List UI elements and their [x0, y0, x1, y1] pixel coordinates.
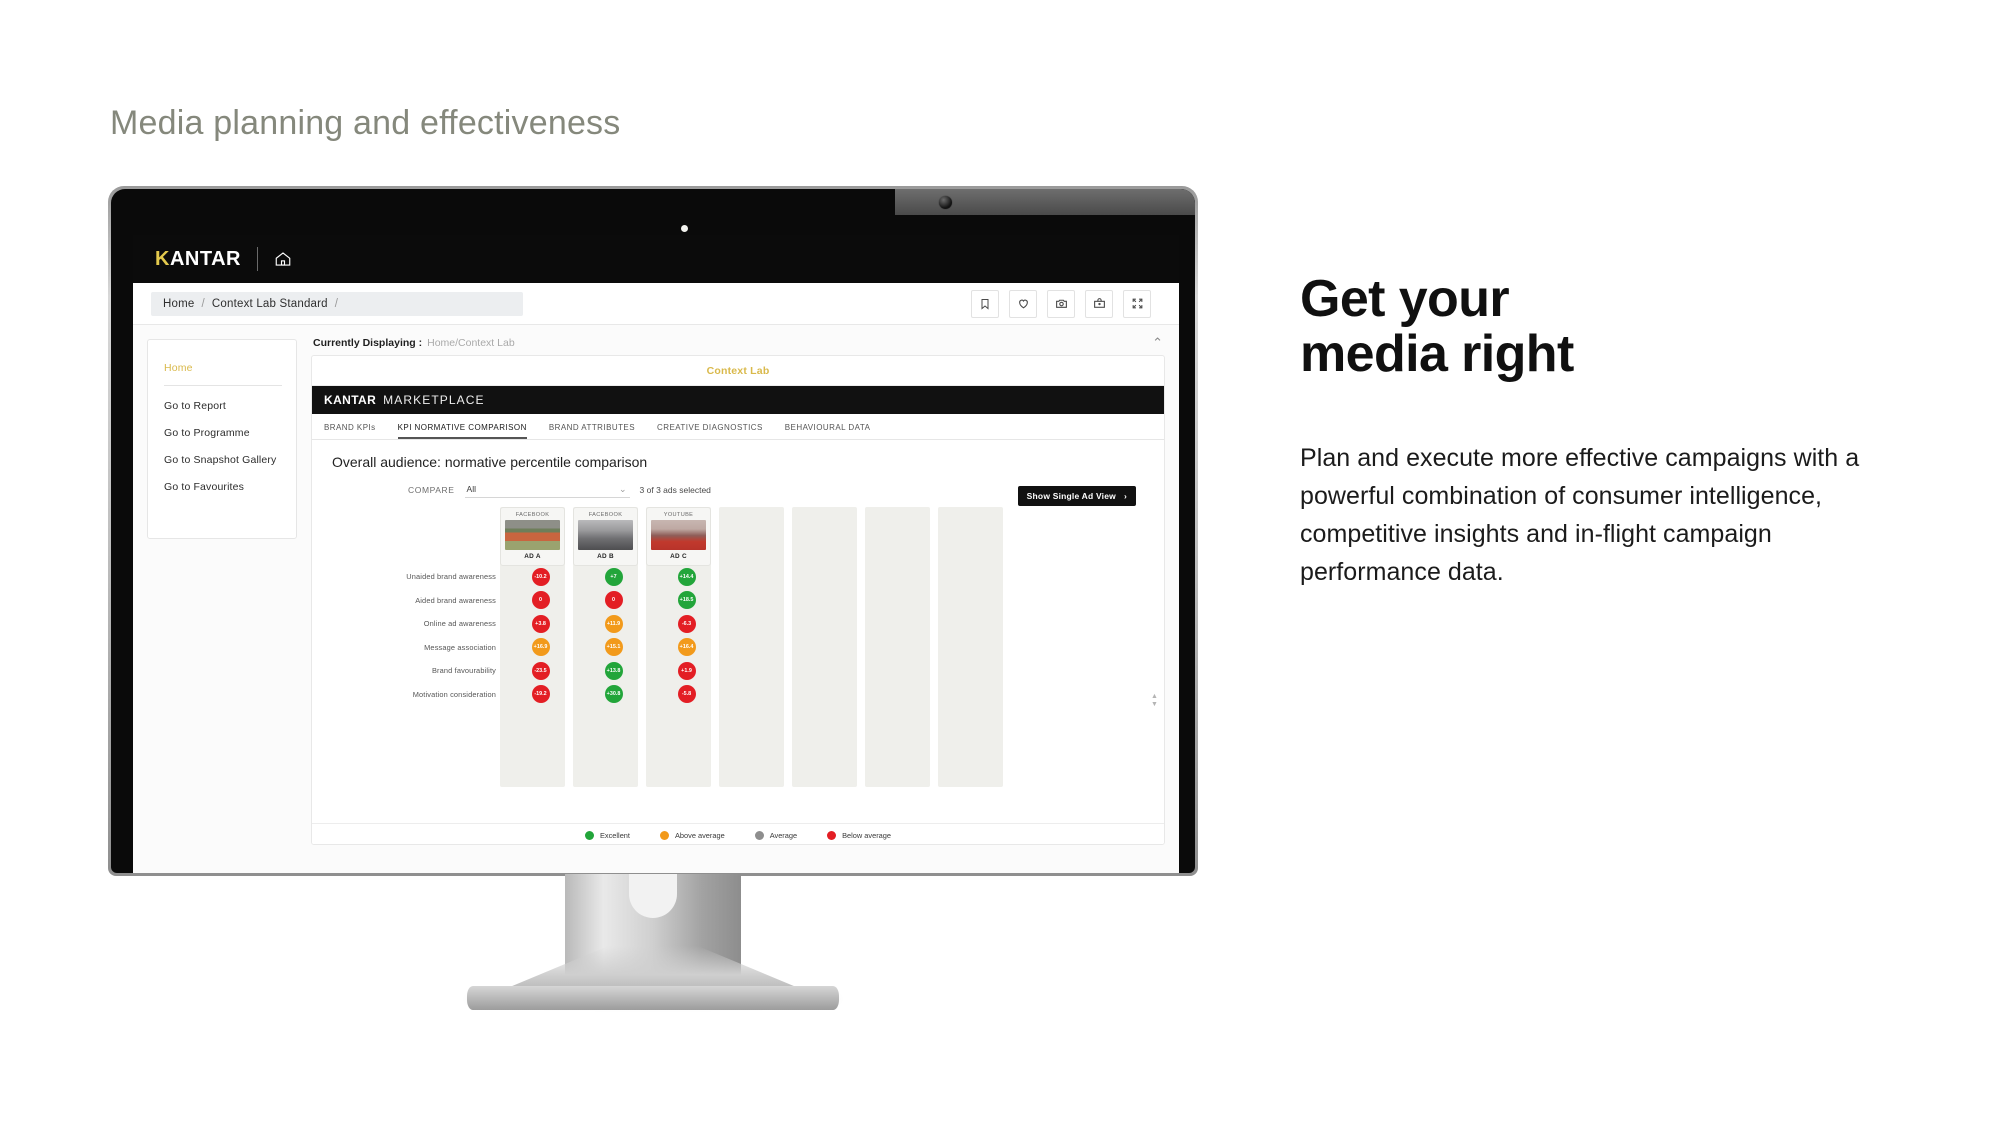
metric-cell: +1.9: [654, 662, 719, 680]
sidebar: Home Go to Report Go to Programme Go to …: [147, 339, 297, 539]
chevron-up-icon[interactable]: ▲: [1151, 693, 1156, 701]
legend-item-average: Average: [755, 831, 797, 840]
legend-label: Average: [770, 831, 797, 840]
chart-legend: Excellent Above average Av: [312, 823, 1164, 840]
legend-item-excellent: Excellent: [585, 831, 630, 840]
logo-k-letter: K: [155, 248, 170, 270]
compare-select[interactable]: All ⌄: [465, 481, 630, 498]
bookmark-button[interactable]: [971, 290, 999, 318]
show-single-ad-view-label: Show Single Ad View: [1027, 491, 1116, 501]
favourite-button[interactable]: [1009, 290, 1037, 318]
breadcrumb-separator-2: /: [335, 298, 338, 310]
panel-tab-row: Context Lab: [312, 356, 1164, 386]
score-bubble[interactable]: +11.9: [605, 615, 623, 633]
metric-label: Message association: [332, 643, 508, 652]
camera-strip: [895, 189, 1195, 215]
metric-label: Unaided brand awareness: [332, 572, 508, 581]
metric-row: Aided brand awareness 0 0 +18.5: [332, 589, 1164, 613]
metric-values: 0 0 +18.5: [508, 591, 719, 609]
metric-cell: -6.3: [654, 615, 719, 633]
score-bubble[interactable]: +16.4: [678, 638, 696, 656]
metric-cell: -10.2: [508, 568, 573, 586]
comparison-grid: FACEBOOK AD A FACEBOOK AD B: [312, 507, 1164, 706]
camera-icon: [1055, 297, 1068, 310]
score-bubble[interactable]: -6.3: [678, 615, 696, 633]
chevron-down-icon[interactable]: ▼: [1151, 701, 1156, 709]
monitor-base: [467, 986, 839, 1010]
toolbar: [971, 290, 1161, 318]
breadcrumb-separator: /: [201, 298, 204, 310]
metric-cell: -19.2: [508, 685, 573, 703]
copy-title: Get your media right: [1300, 272, 1900, 381]
kantar-logo[interactable]: KANTAR: [155, 248, 241, 271]
nav-tabs: BRAND KPIs KPI NORMATIVE COMPARISON BRAN…: [312, 414, 1164, 440]
breadcrumb[interactable]: Home / Context Lab Standard /: [151, 292, 523, 316]
metric-cell: +11.9: [581, 615, 646, 633]
fullscreen-icon: [1131, 297, 1144, 310]
context-lab-panel: Context Lab KANTAR MARKETPLACE BRAND KPI…: [311, 355, 1165, 845]
metric-values: -19.2 +30.8 -5.8: [508, 685, 719, 703]
sidebar-item-favourites[interactable]: Go to Favourites: [148, 473, 296, 500]
sidebar-divider: [164, 385, 282, 386]
metric-cell: +3.8: [508, 615, 573, 633]
heart-icon: [1017, 297, 1030, 310]
fullscreen-button[interactable]: [1123, 290, 1151, 318]
tab-behavioural-data[interactable]: BEHAVIOURAL DATA: [785, 423, 871, 439]
legend-item-below-average: Below average: [827, 831, 891, 840]
chart-title: Overall audience: normative percentile c…: [312, 454, 1164, 470]
vertical-scrollbar[interactable]: ▲ ▼: [1151, 693, 1156, 727]
sidebar-item-home[interactable]: Home: [148, 354, 296, 381]
score-bubble[interactable]: -10.2: [532, 568, 550, 586]
breadcrumb-toolbar: Home / Context Lab Standard /: [133, 283, 1179, 325]
score-bubble[interactable]: +15.1: [605, 638, 623, 656]
metric-cell: 0: [508, 591, 573, 609]
score-bubble[interactable]: -23.5: [532, 662, 550, 680]
logo-rest: ANTAR: [170, 248, 241, 270]
metric-label: Aided brand awareness: [332, 596, 508, 605]
metric-rows: Unaided brand awareness -10.2 +7 +14.4: [332, 507, 1164, 706]
bookmark-icon: [979, 298, 991, 310]
app-screen: KANTAR Home / Context Lab: [133, 235, 1179, 873]
score-bubble[interactable]: -19.2: [532, 685, 550, 703]
content-area: Currently Displaying : Home/Context Lab …: [297, 325, 1179, 873]
status-led-icon: [681, 225, 688, 232]
chevron-up-icon[interactable]: ⌃: [1152, 336, 1163, 349]
briefcase-button[interactable]: [1085, 290, 1113, 318]
tab-brand-kpis[interactable]: BRAND KPIs: [324, 423, 376, 439]
score-bubble[interactable]: +18.5: [678, 591, 696, 609]
currently-displaying-row: Currently Displaying : Home/Context Lab …: [311, 333, 1165, 355]
chevron-down-icon: ⌄: [619, 484, 627, 495]
tab-context-lab[interactable]: Context Lab: [707, 365, 770, 377]
monitor-screen-frame: KANTAR Home / Context Lab: [111, 189, 1195, 873]
metric-values: +3.8 +11.9 -6.3: [508, 615, 719, 633]
metric-label: Brand favourability: [332, 666, 508, 675]
copy-body: Plan and execute more effective campaign…: [1300, 439, 1900, 591]
score-bubble[interactable]: +16.9: [532, 638, 550, 656]
legend-item-above-average: Above average: [660, 831, 725, 840]
legend-swatch-grey: [755, 831, 764, 840]
metric-cell: +16.9: [508, 638, 573, 656]
metric-cell: 0: [581, 591, 646, 609]
legend-label: Below average: [842, 831, 891, 840]
snapshot-button[interactable]: [1047, 290, 1075, 318]
slide-canvas: Media planning and effectiveness KANTAR: [0, 0, 2000, 1125]
compare-label: COMPARE: [408, 485, 455, 495]
metric-cell: +13.8: [581, 662, 646, 680]
metric-values: +16.9 +15.1 +16.4: [508, 638, 719, 656]
score-bubble[interactable]: +7: [605, 568, 623, 586]
camera-icon: [939, 196, 952, 209]
sidebar-item-programme[interactable]: Go to Programme: [148, 419, 296, 446]
legend-swatch-orange: [660, 831, 669, 840]
sidebar-item-report[interactable]: Go to Report: [148, 392, 296, 419]
legend-swatch-red: [827, 831, 836, 840]
metric-row: Online ad awareness +3.8 +11.9 -6.3: [332, 612, 1164, 636]
workspace: Home Go to Report Go to Programme Go to …: [133, 325, 1179, 873]
score-bubble[interactable]: +1.9: [678, 662, 696, 680]
chart-area: Overall audience: normative percentile c…: [312, 440, 1164, 844]
currently-displaying-value: Home/Context Lab: [427, 337, 515, 349]
score-bubble[interactable]: +3.8: [532, 615, 550, 633]
breadcrumb-item[interactable]: Context Lab Standard: [212, 298, 328, 310]
score-bubble[interactable]: 0: [605, 591, 623, 609]
app-topbar: KANTAR: [133, 235, 1179, 283]
monitor-mockup: KANTAR Home / Context Lab: [108, 186, 1198, 1006]
score-bubble[interactable]: +30.8: [605, 685, 623, 703]
score-bubble[interactable]: -5.8: [678, 685, 696, 703]
metric-row: Motivation consideration -19.2 +30.8 -5.…: [332, 683, 1164, 707]
monitor-neck-notch: [629, 874, 677, 918]
tab-brand-attributes[interactable]: BRAND ATTRIBUTES: [549, 423, 635, 439]
metric-row: Message association +16.9 +15.1 +16.4: [332, 636, 1164, 660]
metric-cell: +16.4: [654, 638, 719, 656]
chevron-right-icon: ›: [1124, 491, 1127, 501]
legend-swatch-green: [585, 831, 594, 840]
score-bubble[interactable]: +13.8: [605, 662, 623, 680]
metric-cell: +14.4: [654, 568, 719, 586]
home-icon[interactable]: [274, 250, 292, 268]
ads-selected-count: 3 of 3 ads selected: [640, 485, 711, 495]
metric-label: Online ad awareness: [332, 619, 508, 628]
tab-creative-diagnostics[interactable]: CREATIVE DIAGNOSTICS: [657, 423, 763, 439]
metric-cell: +30.8: [581, 685, 646, 703]
marketplace-logo-bold: KANTAR: [324, 393, 376, 407]
marketplace-logo-light: MARKETPLACE: [383, 393, 484, 407]
metric-cell: -23.5: [508, 662, 573, 680]
copy-block: Get your media right Plan and execute mo…: [1300, 272, 1900, 591]
marketplace-bar: KANTAR MARKETPLACE: [312, 386, 1164, 414]
metric-cell: +15.1: [581, 638, 646, 656]
metric-values: -10.2 +7 +14.4: [508, 568, 719, 586]
metric-cell: -5.8: [654, 685, 719, 703]
briefcase-icon: [1093, 297, 1106, 310]
metric-label: Motivation consideration: [332, 690, 508, 699]
currently-displaying-label: Currently Displaying :: [313, 337, 422, 349]
metric-cell: +7: [581, 568, 646, 586]
logo-divider: [257, 247, 258, 271]
section-heading: Media planning and effectiveness: [110, 104, 620, 143]
metric-row: Unaided brand awareness -10.2 +7 +14.4: [332, 565, 1164, 589]
sidebar-item-snapshot-gallery[interactable]: Go to Snapshot Gallery: [148, 446, 296, 473]
metric-values: -23.5 +13.8 +1.9: [508, 662, 719, 680]
monitor-bezel: KANTAR Home / Context Lab: [108, 186, 1198, 876]
compare-select-value: All: [467, 484, 476, 494]
legend-label: Excellent: [600, 831, 630, 840]
metric-row: Brand favourability -23.5 +13.8 +1.9: [332, 659, 1164, 683]
score-bubble[interactable]: 0: [532, 591, 550, 609]
show-single-ad-view-button[interactable]: Show Single Ad View ›: [1018, 486, 1136, 506]
legend-label: Above average: [675, 831, 725, 840]
metric-cell: +18.5: [654, 591, 719, 609]
score-bubble[interactable]: +14.4: [678, 568, 696, 586]
tab-kpi-normative-comparison[interactable]: KPI NORMATIVE COMPARISON: [398, 423, 527, 439]
breadcrumb-home[interactable]: Home: [163, 298, 194, 310]
